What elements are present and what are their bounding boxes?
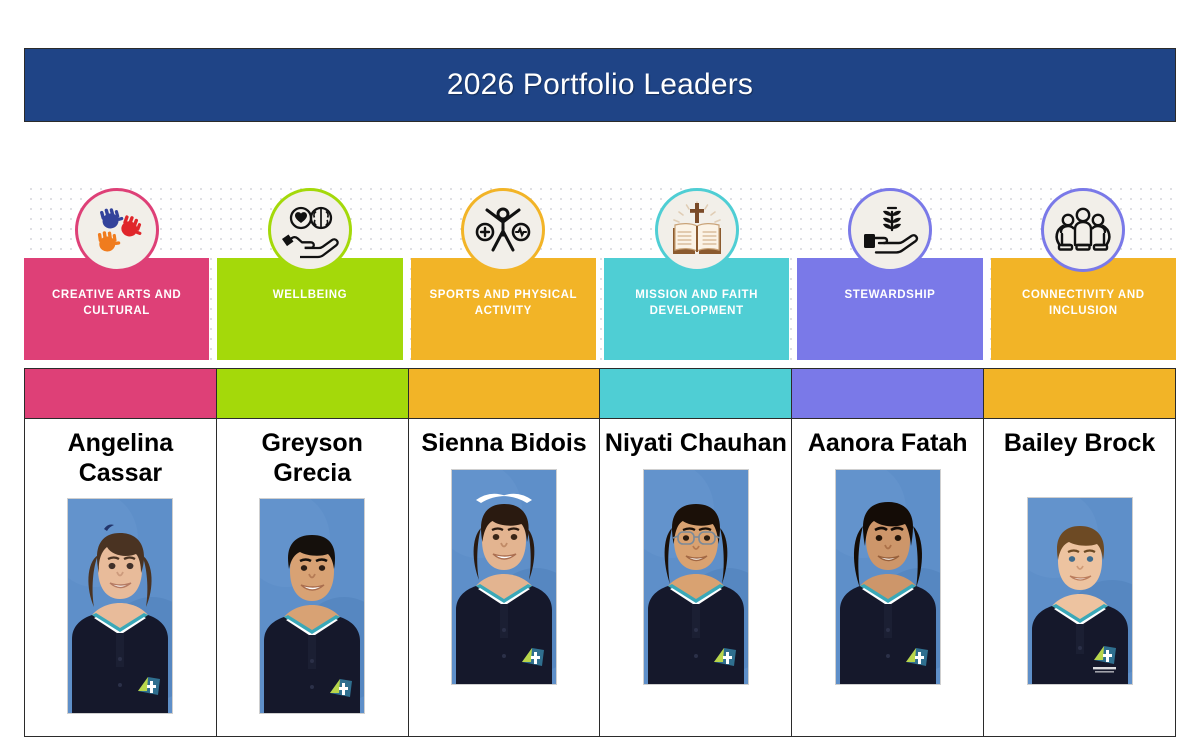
column-body: Aanora Fatah xyxy=(792,419,983,736)
column-body: Greyson Grecia xyxy=(217,419,408,736)
student-portrait xyxy=(1027,497,1133,685)
portfolio-banner-wellbeing[interactable]: WELLBEING xyxy=(217,258,402,360)
student-name: Sienna Bidois xyxy=(412,429,595,459)
page-title-banner: 2026 Portfolio Leaders xyxy=(24,48,1176,122)
hand-heart-brain-icon xyxy=(268,188,352,272)
handprints-icon xyxy=(75,188,159,272)
bible-cross-icon xyxy=(655,188,739,272)
student-name: Angelina Cassar xyxy=(29,429,212,488)
portfolio-banner-stewardship[interactable]: STEWARDSHIP xyxy=(797,258,982,360)
portfolio-label: CONNECTIVITY AND INCLUSION xyxy=(998,288,1169,319)
table-column-sports-and-physical-activity: Sienna Bidois xyxy=(409,369,601,736)
portfolio-label: CREATIVE ARTS AND CULTURAL xyxy=(31,288,202,319)
page-title: 2026 Portfolio Leaders xyxy=(447,68,753,102)
column-color-swatch xyxy=(600,369,791,419)
column-color-swatch xyxy=(409,369,600,419)
portfolio-banner-sports-and-physical-activity[interactable]: SPORTS AND PHYSICAL ACTIVITY xyxy=(411,258,596,360)
column-color-swatch xyxy=(792,369,983,419)
column-color-swatch xyxy=(217,369,408,419)
student-portrait xyxy=(643,469,749,685)
poster: 2026 Portfolio Leaders xyxy=(0,0,1200,743)
column-body: Angelina Cassar xyxy=(25,419,216,736)
column-body: Niyati Chauhan xyxy=(600,419,791,736)
student-name: Bailey Brock xyxy=(988,429,1171,459)
table-column-stewardship: Aanora Fatah xyxy=(792,369,984,736)
student-name: Greyson Grecia xyxy=(221,429,404,488)
student-portrait xyxy=(259,498,365,714)
student-name: Niyati Chauhan xyxy=(604,429,787,459)
portfolio-label: MISSION AND FAITH DEVELOPMENT xyxy=(611,288,782,319)
column-color-swatch xyxy=(984,369,1175,419)
student-portrait xyxy=(67,498,173,714)
table-column-wellbeing: Greyson Grecia xyxy=(217,369,409,736)
portfolio-label: STEWARDSHIP xyxy=(805,288,976,304)
portfolio-banner-mission-and-faith-development[interactable]: MISSION AND FAITH DEVELOPMENT xyxy=(604,258,789,360)
student-portrait xyxy=(451,469,557,685)
table-column-mission-and-faith-development: Niyati Chauhan xyxy=(600,369,792,736)
active-person-icon xyxy=(461,188,545,272)
student-name: Aanora Fatah xyxy=(796,429,979,459)
leaders-table: Angelina Cassar xyxy=(24,368,1176,737)
table-column-connectivity-and-inclusion: Bailey Brock xyxy=(984,369,1175,736)
portfolio-banner-connectivity-and-inclusion[interactable]: CONNECTIVITY AND INCLUSION xyxy=(991,258,1176,360)
portfolio-label: WELLBEING xyxy=(225,288,396,304)
student-portrait xyxy=(835,469,941,685)
portfolio-label: SPORTS AND PHYSICAL ACTIVITY xyxy=(418,288,589,319)
portfolio-banner-creative-arts-and-cultural[interactable]: CREATIVE ARTS AND CULTURAL xyxy=(24,258,209,360)
portfolio-banner-row: CREATIVE ARTS AND CULTURAL WELLBEING xyxy=(24,258,1176,360)
column-color-swatch xyxy=(25,369,216,419)
column-body: Bailey Brock xyxy=(984,419,1175,736)
hand-seedling-icon xyxy=(848,188,932,272)
people-inclusion-icon xyxy=(1041,188,1125,272)
column-body: Sienna Bidois xyxy=(409,419,600,736)
table-column-creative-arts-and-cultural: Angelina Cassar xyxy=(25,369,217,736)
